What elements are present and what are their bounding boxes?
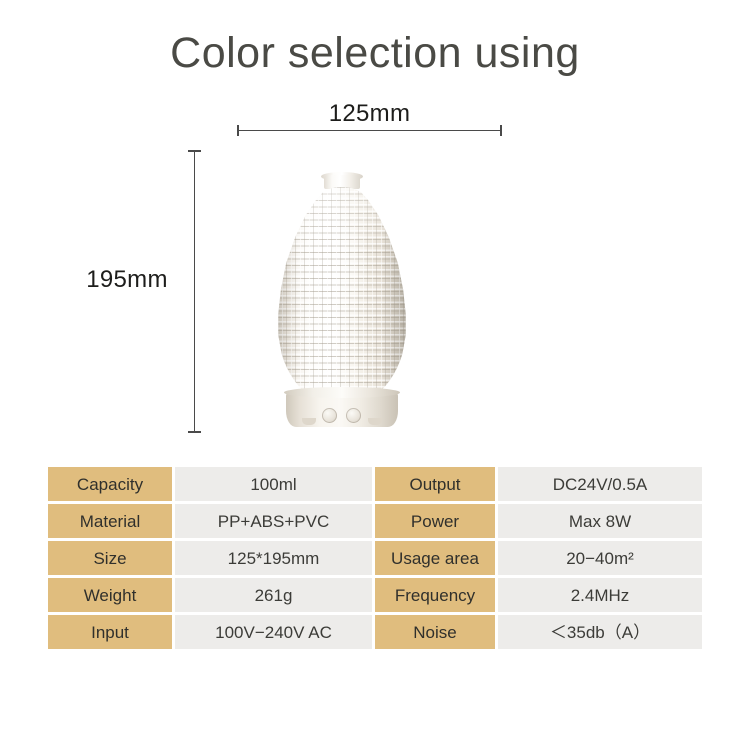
- spec-value-output: DC24V/0.5A: [498, 467, 702, 501]
- table-row: Material PP+ABS+PVC Power Max 8W: [48, 504, 702, 538]
- spec-value-weight: 261g: [175, 578, 372, 612]
- height-dimension-line: [194, 150, 195, 433]
- base-foot-left: [302, 418, 316, 425]
- spec-value-capacity: 100ml: [175, 467, 372, 501]
- spec-label-weight: Weight: [48, 578, 172, 612]
- product-spec-page: Color selection using 125mm 195mm Capaci…: [0, 0, 750, 750]
- spec-value-usage-area: 20−40m²: [498, 541, 702, 575]
- spec-value-material: PP+ABS+PVC: [175, 504, 372, 538]
- diffuser-base: [286, 391, 398, 427]
- power-button-icon[interactable]: [322, 408, 337, 423]
- table-row: Size 125*195mm Usage area 20−40m²: [48, 541, 702, 575]
- diffuser-base-rim: [284, 387, 400, 398]
- diffuser-woven-body: [277, 187, 407, 405]
- spec-value-size: 125*195mm: [175, 541, 372, 575]
- spec-label-power: Power: [375, 504, 495, 538]
- spec-label-usage-area: Usage area: [375, 541, 495, 575]
- base-foot-right: [368, 418, 382, 425]
- spec-label-noise: Noise: [375, 615, 495, 649]
- light-button-icon[interactable]: [346, 408, 361, 423]
- spec-label-input: Input: [48, 615, 172, 649]
- table-row: Weight 261g Frequency 2.4MHz: [48, 578, 702, 612]
- specification-table: Capacity 100ml Output DC24V/0.5A Materia…: [48, 467, 702, 649]
- spec-label-capacity: Capacity: [48, 467, 172, 501]
- page-title: Color selection using: [0, 28, 750, 80]
- spec-label-frequency: Frequency: [375, 578, 495, 612]
- width-dimension-label: 125mm: [237, 100, 502, 128]
- product-image-diffuser: [262, 175, 422, 435]
- height-dimension-label: 195mm: [72, 266, 182, 294]
- spec-value-noise: ＜35db（A）: [498, 615, 702, 649]
- spec-value-frequency: 2.4MHz: [498, 578, 702, 612]
- spec-value-power: Max 8W: [498, 504, 702, 538]
- spec-label-size: Size: [48, 541, 172, 575]
- table-row: Capacity 100ml Output DC24V/0.5A: [48, 467, 702, 501]
- spec-label-material: Material: [48, 504, 172, 538]
- diffuser-neck: [324, 175, 360, 189]
- spec-value-input: 100V−240V AC: [175, 615, 372, 649]
- table-row: Input 100V−240V AC Noise ＜35db（A）: [48, 615, 702, 649]
- body-shading: [277, 187, 407, 405]
- width-dimension-line: [237, 130, 502, 131]
- spec-label-output: Output: [375, 467, 495, 501]
